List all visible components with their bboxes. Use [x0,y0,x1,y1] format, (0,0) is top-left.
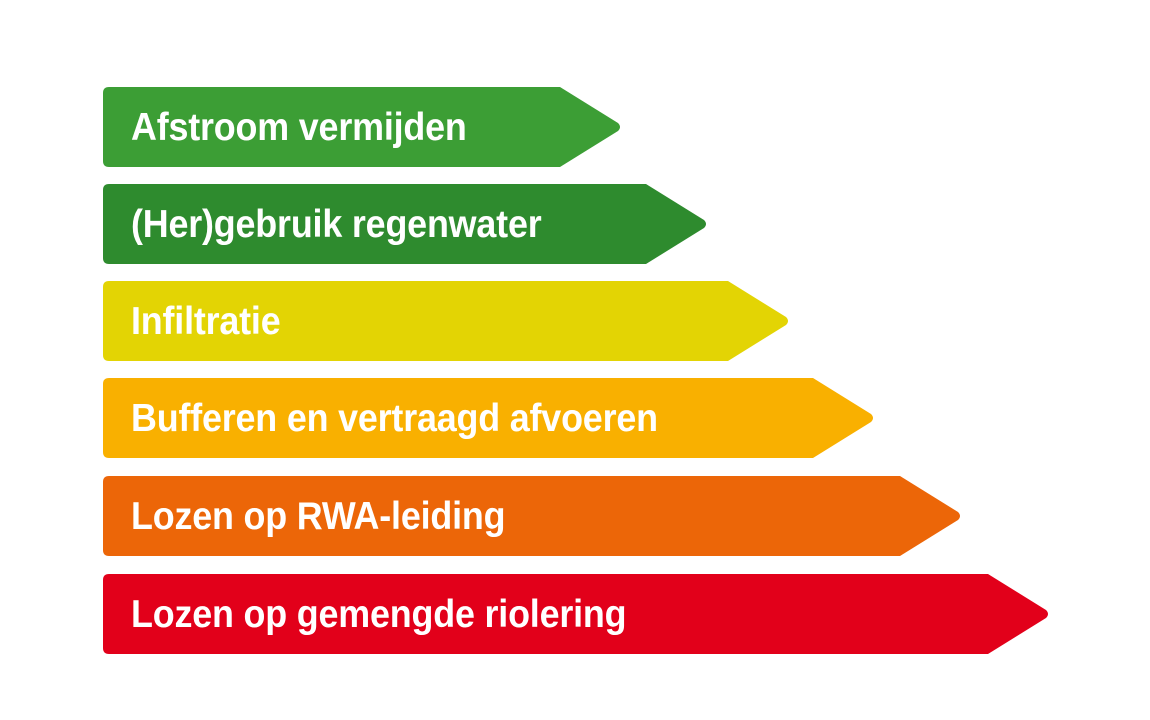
arrow-fill [103,574,1048,654]
arrow-shape-buffer-and-delayed-discharge [103,378,875,458]
arrow-bar-discharge-to-rwa-pipe: Lozen op RWA-leiding [103,476,962,556]
arrow-shape-avoid-runoff [103,87,622,167]
infographic-canvas: Afstroom vermijden(Her)gebruik regenwate… [0,0,1150,720]
arrow-shape-discharge-to-combined-sewer [103,574,1050,654]
arrow-shape-reuse-rainwater [103,184,708,264]
arrow-bar-discharge-to-combined-sewer: Lozen op gemengde riolering [103,574,1050,654]
arrow-shape-discharge-to-rwa-pipe [103,476,962,556]
arrow-fill [103,378,873,458]
arrow-fill [103,184,706,264]
arrow-fill [103,87,620,167]
arrow-shape-infiltration [103,281,790,361]
arrow-bar-infiltration: Infiltratie [103,281,790,361]
arrow-bar-reuse-rainwater: (Her)gebruik regenwater [103,184,708,264]
arrow-fill [103,281,788,361]
arrow-bar-buffer-and-delayed-discharge: Bufferen en vertraagd afvoeren [103,378,875,458]
arrow-fill [103,476,960,556]
arrow-bar-avoid-runoff: Afstroom vermijden [103,87,622,167]
